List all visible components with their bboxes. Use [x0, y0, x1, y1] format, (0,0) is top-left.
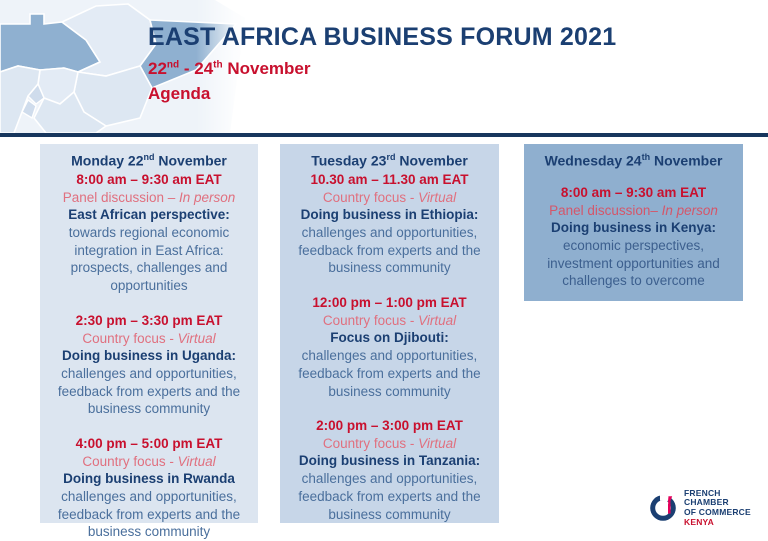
session-mode: Panel discussion – In person: [46, 189, 252, 207]
session-time: 4:00 pm – 5:00 pm EAT: [46, 435, 252, 453]
agenda-column-wednesday: Wednesday 24th November 8:00 am – 9:30 a…: [524, 144, 743, 301]
day-prefix: Tuesday 23: [311, 153, 386, 169]
session-mode-emphasis: Virtual: [178, 454, 216, 469]
day-suffix: November: [650, 153, 722, 169]
header-divider: [0, 133, 768, 137]
dates-prefix: 22: [148, 59, 167, 78]
logo-wordmark: FRENCH CHAMBER OF COMMERCE KENYA: [684, 489, 760, 527]
dates-ordinal-2: th: [213, 59, 222, 70]
session-title: Focus on Djibouti:: [286, 329, 493, 347]
session-mode-text: Country focus -: [82, 331, 177, 346]
day-prefix: Monday 22: [71, 153, 143, 169]
session-time: 2:00 pm – 3:00 pm EAT: [286, 417, 493, 435]
session-mode: Country focus - Virtual: [286, 189, 493, 207]
session-title: East African perspective:: [46, 206, 252, 224]
session-time: 10.30 am – 11.30 am EAT: [286, 171, 493, 189]
session-mode-text: Panel discussion –: [63, 190, 179, 205]
session-mode-text: Panel discussion–: [549, 203, 662, 218]
session-time: 12:00 pm – 1:00 pm EAT: [286, 294, 493, 312]
session-mode: Panel discussion– In person: [530, 202, 737, 220]
page-title: EAST AFRICA BUSINESS FORUM 2021: [148, 24, 616, 52]
page-header: EAST AFRICA BUSINESS FORUM 2021 22nd - 2…: [0, 0, 768, 135]
dates-suffix: November: [223, 59, 311, 78]
session-mode-text: Country focus -: [82, 454, 177, 469]
session-mode-emphasis: Virtual: [418, 436, 456, 451]
session-title: Doing business in Kenya:: [530, 219, 737, 237]
session-description: towards regional economic integration in…: [46, 224, 252, 295]
session-mode-emphasis: Virtual: [418, 313, 456, 328]
session-mode: Country focus - Virtual: [286, 312, 493, 330]
session-mode-emphasis: Virtual: [418, 190, 456, 205]
session-mode-text: Country focus -: [323, 313, 418, 328]
session-description: challenges and opportunities, feedback f…: [46, 488, 252, 541]
session-mode: Country focus - Virtual: [286, 435, 493, 453]
session-time: 8:00 am – 9:30 am EAT: [46, 171, 252, 189]
session-item: 10.30 am – 11.30 am EAT Country focus - …: [286, 171, 493, 277]
session-mode-text: Country focus -: [323, 436, 418, 451]
session-mode-emphasis: Virtual: [178, 331, 216, 346]
session-item: 2:30 pm – 3:30 pm EAT Country focus - Vi…: [46, 312, 252, 418]
session-item: 4:00 pm – 5:00 pm EAT Country focus - Vi…: [46, 435, 252, 541]
page-subtitle: Agenda: [148, 84, 616, 104]
day-heading: Wednesday 24th November: [530, 152, 737, 170]
session-item: 12:00 pm – 1:00 pm EAT Country focus - V…: [286, 294, 493, 400]
session-description: challenges and opportunities, feedback f…: [286, 224, 493, 277]
day-ordinal: nd: [144, 152, 155, 162]
session-item: 2:00 pm – 3:00 pm EAT Country focus - Vi…: [286, 417, 493, 523]
session-description: challenges and opportunities, feedback f…: [46, 365, 252, 418]
session-title: Doing business in Tanzania:: [286, 452, 493, 470]
session-mode-text: Country focus -: [323, 190, 418, 205]
session-description: challenges and opportunities, feedback f…: [286, 347, 493, 400]
day-heading: Tuesday 23rd November: [286, 152, 493, 170]
logo-line-1: FRENCH CHAMBER: [684, 489, 760, 508]
session-mode-emphasis: In person: [662, 203, 718, 218]
session-description: economic perspectives, investment opport…: [530, 237, 737, 290]
dates-ordinal-1: nd: [167, 59, 179, 70]
agenda-column-tuesday: Tuesday 23rd November 10.30 am – 11.30 a…: [280, 144, 499, 523]
day-suffix: November: [395, 153, 467, 169]
agenda-column-monday: Monday 22nd November 8:00 am – 9:30 am E…: [40, 144, 258, 523]
header-text-block: EAST AFRICA BUSINESS FORUM 2021 22nd - 2…: [148, 24, 616, 104]
session-mode-emphasis: In person: [179, 190, 235, 205]
session-description: challenges and opportunities, feedback f…: [286, 470, 493, 523]
dates-mid: - 24: [179, 59, 213, 78]
session-mode: Country focus - Virtual: [46, 453, 252, 471]
session-item: 8:00 am – 9:30 am EAT Panel discussion –…: [46, 171, 252, 295]
day-ordinal: th: [642, 152, 651, 162]
day-heading: Monday 22nd November: [46, 152, 252, 170]
cci-circle-icon-svg: [648, 493, 678, 523]
logo-line-3: KENYA: [684, 518, 760, 528]
session-title: Doing business in Rwanda: [46, 470, 252, 488]
session-title: Doing business in Uganda:: [46, 347, 252, 365]
session-mode: Country focus - Virtual: [46, 330, 252, 348]
session-time: 8:00 am – 9:30 am EAT: [530, 184, 737, 202]
session-title: Doing business in Ethiopia:: [286, 206, 493, 224]
forum-dates: 22nd - 24th November: [148, 59, 616, 79]
day-prefix: Wednesday 24: [545, 153, 642, 169]
session-item: 8:00 am – 9:30 am EAT Panel discussion– …: [530, 184, 737, 290]
session-time: 2:30 pm – 3:30 pm EAT: [46, 312, 252, 330]
cci-circle-icon: [648, 493, 678, 523]
day-suffix: November: [155, 153, 227, 169]
french-chamber-logo: FRENCH CHAMBER OF COMMERCE KENYA: [648, 488, 760, 528]
